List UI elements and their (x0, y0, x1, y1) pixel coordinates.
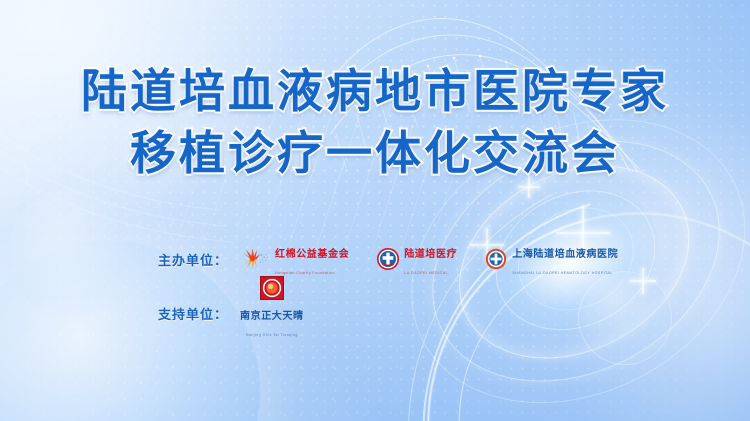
medical-cross-circle-icon (485, 248, 507, 275)
title-line-2: 移植诊疗一体化交流会 (0, 124, 750, 182)
logo-hongmian-cn: 红棉公益基金会 (275, 249, 349, 260)
logo-hongmian-en: Hongmian Charity Foundation (275, 271, 335, 275)
host-logo-strip: 红棉公益基金会 Hongmian Charity Foundation (240, 238, 618, 279)
host-organizers-row: 主办单位： (158, 238, 638, 274)
banner-content: 陆道培血液病地市医院专家 移植诊疗一体化交流会 主办单位： (0, 0, 750, 421)
organizers-section: 主办单位： (158, 238, 638, 341)
logo-ludaopei-text: 陆道培医疗 LU DAOPEI MEDICAL (404, 245, 457, 279)
red-square-emblem-icon (260, 276, 284, 305)
logo-hongmian-text: 红棉公益基金会 Hongmian Charity Foundation (275, 245, 349, 279)
logo-shanghai-text: 上海陆道培血液病医院 SHANGHAI LU DAOPEI HEMATOLOGY… (512, 245, 618, 279)
logo-zhengda-en: Nanjing Chia Tai Tianqing (246, 333, 298, 337)
logo-ludaopei-cn: 陆道培医疗 (404, 249, 457, 260)
page-title: 陆道培血液病地市医院专家 移植诊疗一体化交流会 (0, 62, 750, 182)
logo-shanghai-ludaopei-hospital: 上海陆道培血液病医院 SHANGHAI LU DAOPEI HEMATOLOGY… (485, 238, 618, 279)
logo-ludaopei-en: LU DAOPEI MEDICAL (404, 271, 448, 275)
conference-banner: 陆道培血液病地市医院专家 移植诊疗一体化交流会 主办单位： (0, 0, 750, 421)
maple-leaf-burst-icon (240, 248, 270, 275)
host-organizers-label: 主办单位： (158, 238, 240, 269)
logo-nanjing-chia-tai-tianqing: 南京正大天晴 Nanjing Chia Tai Tianqing (240, 276, 304, 341)
logo-zhengda-cn: 南京正大天晴 (240, 311, 304, 322)
logo-zhengda-text: 南京正大天晴 Nanjing Chia Tai Tianqing (240, 307, 304, 341)
support-logo-strip: 南京正大天晴 Nanjing Chia Tai Tianqing (240, 276, 304, 341)
title-line-1: 陆道培血液病地市医院专家 (0, 62, 750, 120)
support-organizers-label: 支持单位： (158, 276, 240, 323)
logo-ludaopei-medical: 陆道培医疗 LU DAOPEI MEDICAL (377, 238, 457, 279)
logo-shanghai-en: SHANGHAI LU DAOPEI HEMATOLOGY HOSPITAL (512, 271, 613, 275)
logo-hongmian-charity-foundation: 红棉公益基金会 Hongmian Charity Foundation (240, 238, 349, 279)
medical-cross-shield-icon (377, 248, 399, 275)
support-organizers-row: 支持单位： 南京正大天晴 N (158, 276, 638, 341)
logo-shanghai-cn: 上海陆道培血液病医院 (512, 249, 618, 260)
